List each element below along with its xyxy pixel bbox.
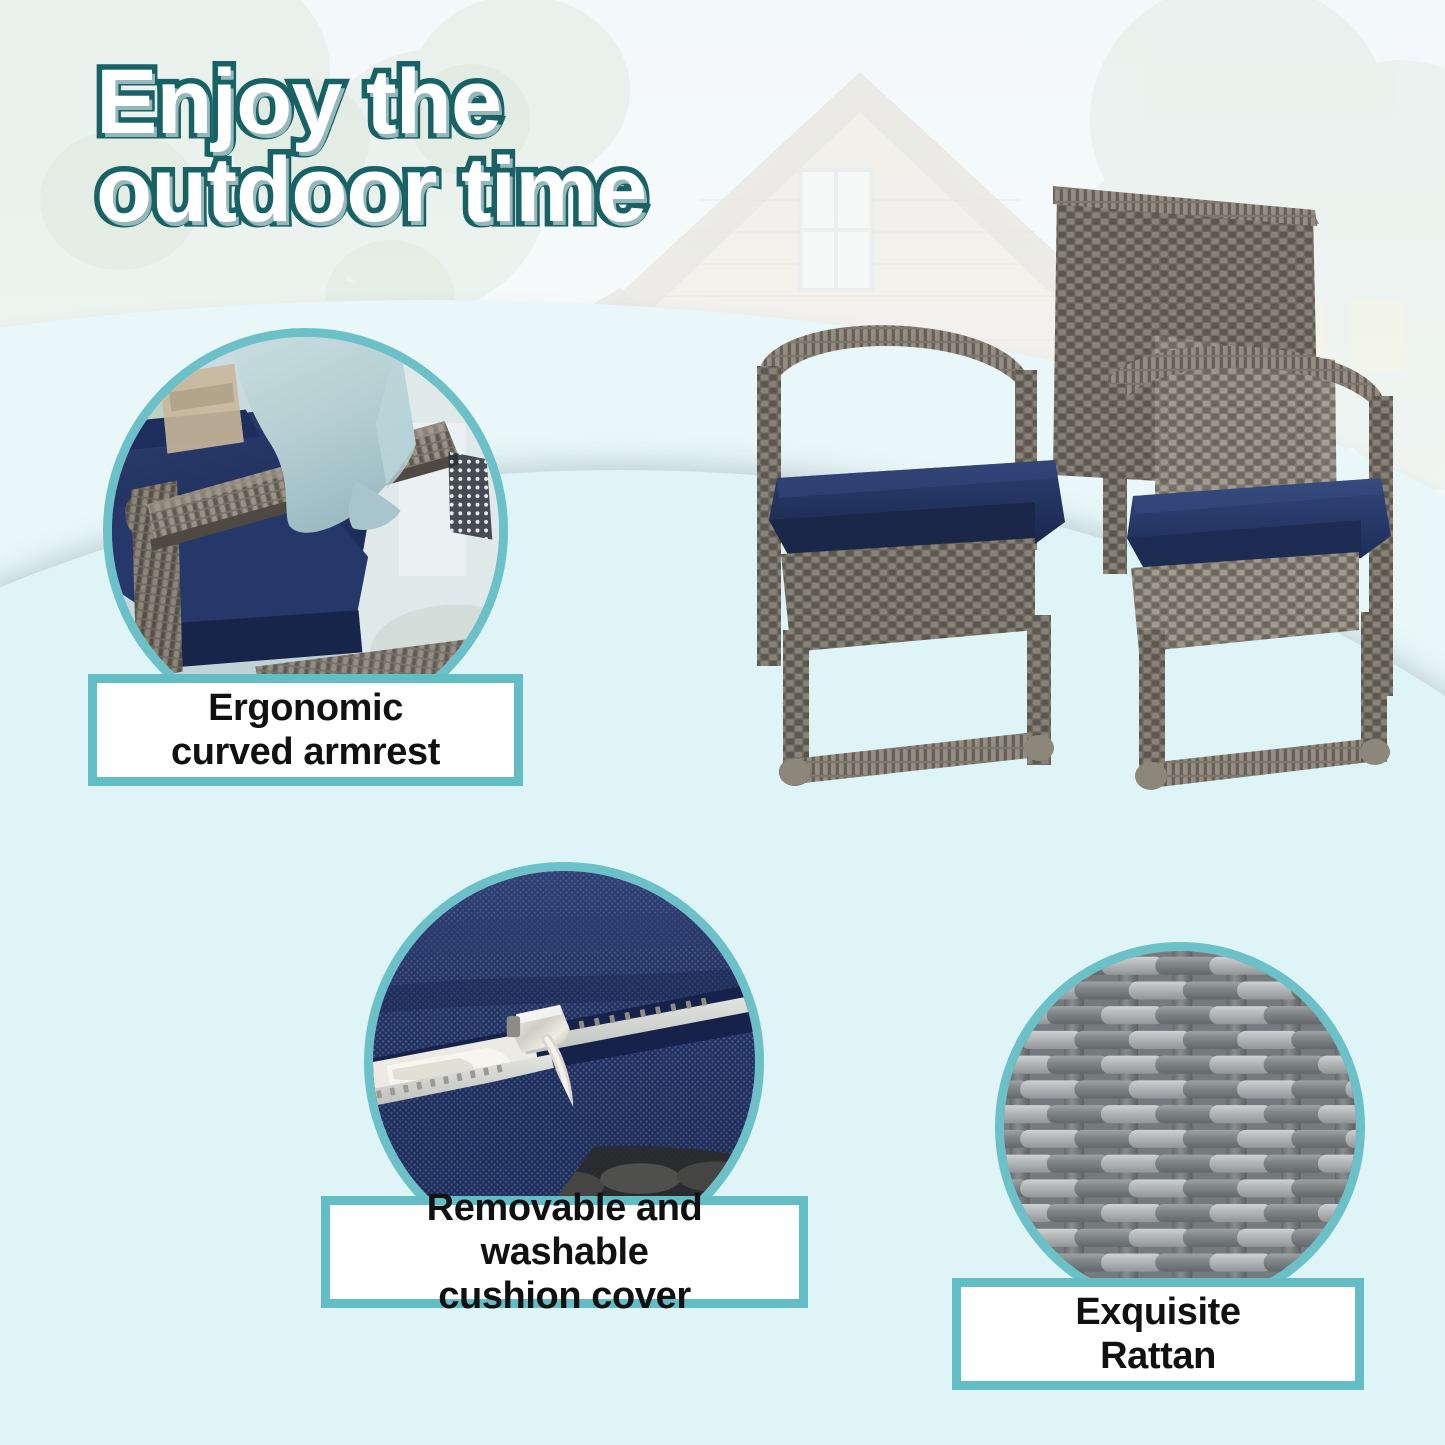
caption-rattan: Exquisite Rattan xyxy=(952,1278,1364,1390)
feature-circle-armrest xyxy=(103,328,508,733)
feature-circle-rattan xyxy=(995,942,1365,1312)
page-title: Enjoy the outdoor time xyxy=(96,58,856,235)
caption-cushion-cover-text: Removable and washable cushion cover xyxy=(330,1186,799,1318)
main-product-chair xyxy=(735,160,1415,850)
caption-rattan-text: Exquisite Rattan xyxy=(1065,1290,1250,1378)
caption-cushion-cover: Removable and washable cushion cover xyxy=(321,1196,808,1308)
product-feature-poster: Ergonomic curved armrest xyxy=(0,0,1445,1445)
caption-armrest: Ergonomic curved armrest xyxy=(88,674,523,786)
caption-armrest-text: Ergonomic curved armrest xyxy=(161,686,450,774)
